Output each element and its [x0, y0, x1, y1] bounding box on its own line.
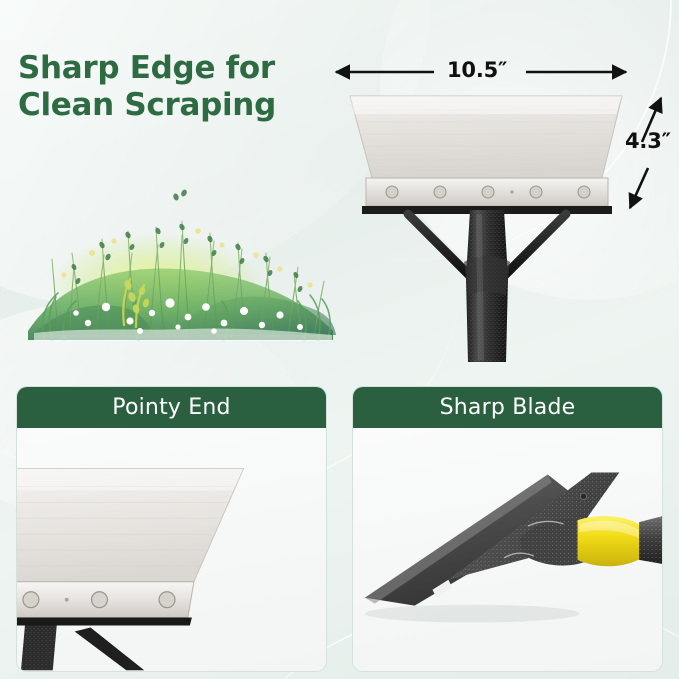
blade-corner-closeup-art: [17, 428, 326, 671]
meadow-illustration: [18, 135, 348, 360]
support-strut-left: [408, 214, 472, 278]
support-strut-right: [502, 214, 566, 278]
spine-rivet: [580, 493, 586, 499]
width-dimension-label: 10.5″: [447, 58, 507, 82]
strut-closeup: [75, 627, 145, 670]
angled-blade-art: [353, 428, 662, 671]
feature-card-sharp-blade: Sharp Blade: [352, 386, 663, 672]
card-title-pointy-end: Pointy End: [17, 387, 326, 428]
card-title-sharp-blade: Sharp Blade: [353, 387, 662, 428]
headline: Sharp Edge for Clean Scraping: [18, 50, 276, 123]
card-body-pointy-end: [17, 428, 326, 671]
cutting-edge-closeup: [17, 618, 192, 626]
hero-scraper-tool: [336, 82, 636, 362]
infographic-page: Sharp Edge for Clean Scraping: [0, 0, 679, 679]
feature-card-pointy-end: Pointy End: [16, 386, 327, 672]
card-body-sharp-blade: [353, 428, 662, 671]
